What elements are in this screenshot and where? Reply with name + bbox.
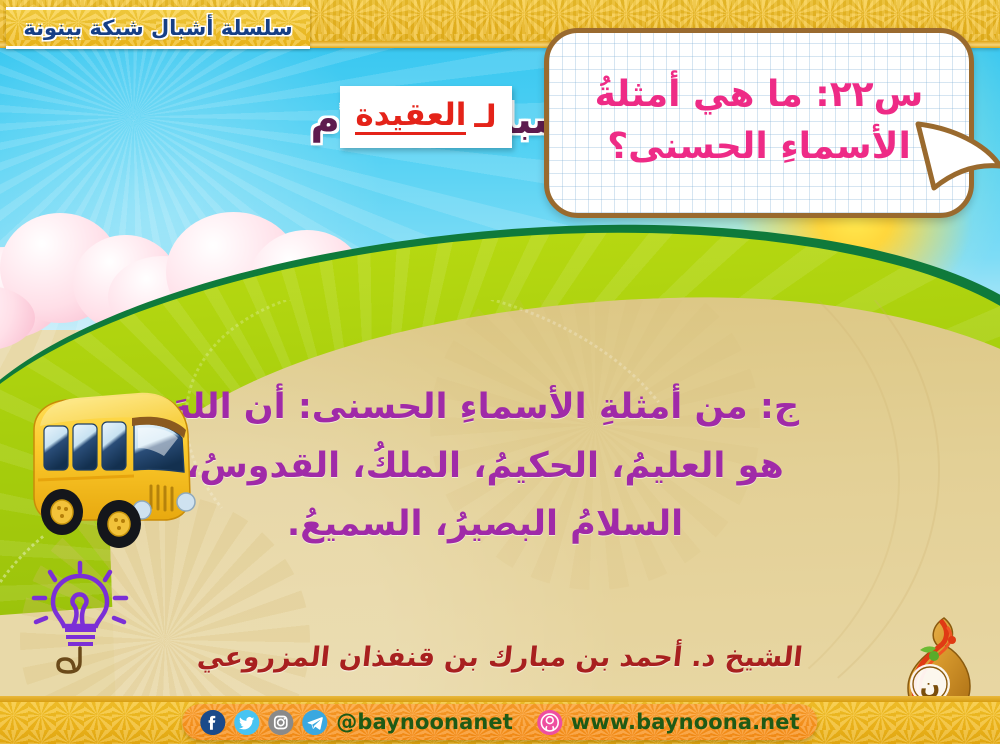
social-handle[interactable]: @baynoonanet — [336, 710, 513, 734]
question-bubble: س٢٢: ما هي أمثلةُ الأسماءِ الحسنى؟ — [544, 28, 974, 218]
telegram-icon[interactable] — [302, 710, 327, 735]
browser-icon[interactable] — [537, 710, 562, 735]
question-line-1: س٢٢: ما هي أمثلةُ — [595, 71, 924, 119]
answer-block: ج: من أمثلةِ الأسماءِ الحسنى: أن اللهَ ه… — [120, 386, 850, 562]
school-bus-illustration — [18, 368, 218, 558]
answer-line-1: ج: من أمثلةِ الأسماءِ الحسنى: أن اللهَ — [120, 386, 850, 429]
speech-bubble-tail — [916, 118, 1000, 196]
footer-social-bar: @baynoonanet www.baynoona.net — [182, 704, 817, 740]
answer-line-2: هو العليمُ، الحكيمُ، الملكُ، القدوسُ، — [120, 445, 850, 488]
answer-line-3: السلامُ البصيرُ، السميعُ. — [120, 503, 850, 546]
series-ribbon-label: سلسلة أشبال شبكة بينونة — [23, 16, 292, 40]
lesson-card: سلسلة أشبال شبكة بينونة — [0, 0, 1000, 744]
instagram-icon[interactable] — [268, 710, 293, 735]
facebook-icon[interactable] — [200, 710, 225, 735]
series-ribbon: سلسلة أشبال شبكة بينونة — [6, 7, 310, 49]
website-url[interactable]: www.baynoona.net — [571, 710, 800, 734]
twitter-icon[interactable] — [234, 710, 259, 735]
subject-prefix: لـ — [474, 99, 496, 135]
author-signature: الشيخ د. أحمد بن مبارك بن قنفذان المزروع… — [0, 642, 1000, 673]
question-line-2: الأسماءِ الحسنى؟ — [607, 123, 911, 171]
subject-label: العقيدة — [355, 99, 466, 135]
subject-tag: لـ العقيدة — [340, 86, 512, 148]
